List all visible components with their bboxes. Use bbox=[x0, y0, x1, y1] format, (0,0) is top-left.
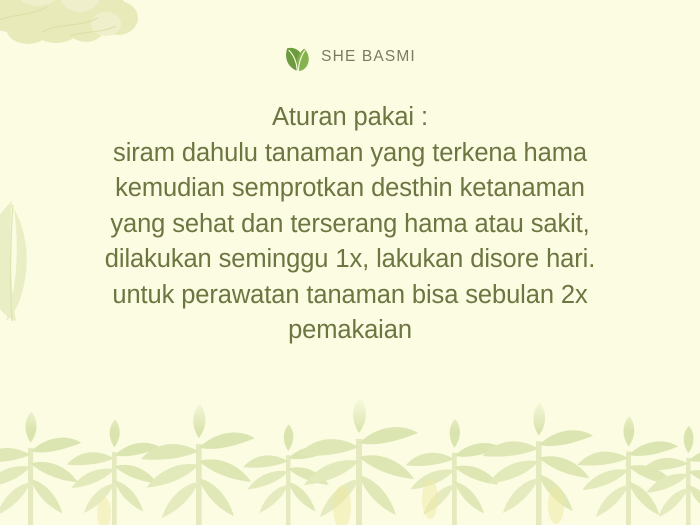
poster-canvas: SHE BASMI Aturan pakai : siram dahulu ta… bbox=[0, 0, 700, 525]
two-leaves-icon bbox=[284, 42, 310, 72]
instructions-line: pemakaian bbox=[0, 313, 700, 349]
instructions-line: yang sehat dan terserang hama atau sakit… bbox=[0, 207, 700, 243]
bottom-corn-plants-decoration bbox=[0, 395, 700, 525]
corn-cob-shapes bbox=[97, 479, 564, 525]
instructions-line: untuk perawatan tanaman bisa sebulan 2x bbox=[0, 278, 700, 314]
instructions-line: dilakukan seminggu 1x, lakukan disore ha… bbox=[0, 242, 700, 278]
instructions-line: kemudian semprotkan desthin ketanaman bbox=[0, 171, 700, 207]
brand-header: SHE BASMI bbox=[0, 42, 700, 72]
brand-name: SHE BASMI bbox=[321, 49, 416, 65]
instructions-line: siram dahulu tanaman yang terkena hama bbox=[0, 136, 700, 172]
instructions-line: Aturan pakai : bbox=[0, 100, 700, 136]
instructions-text-block: Aturan pakai : siram dahulu tanaman yang… bbox=[0, 100, 700, 349]
